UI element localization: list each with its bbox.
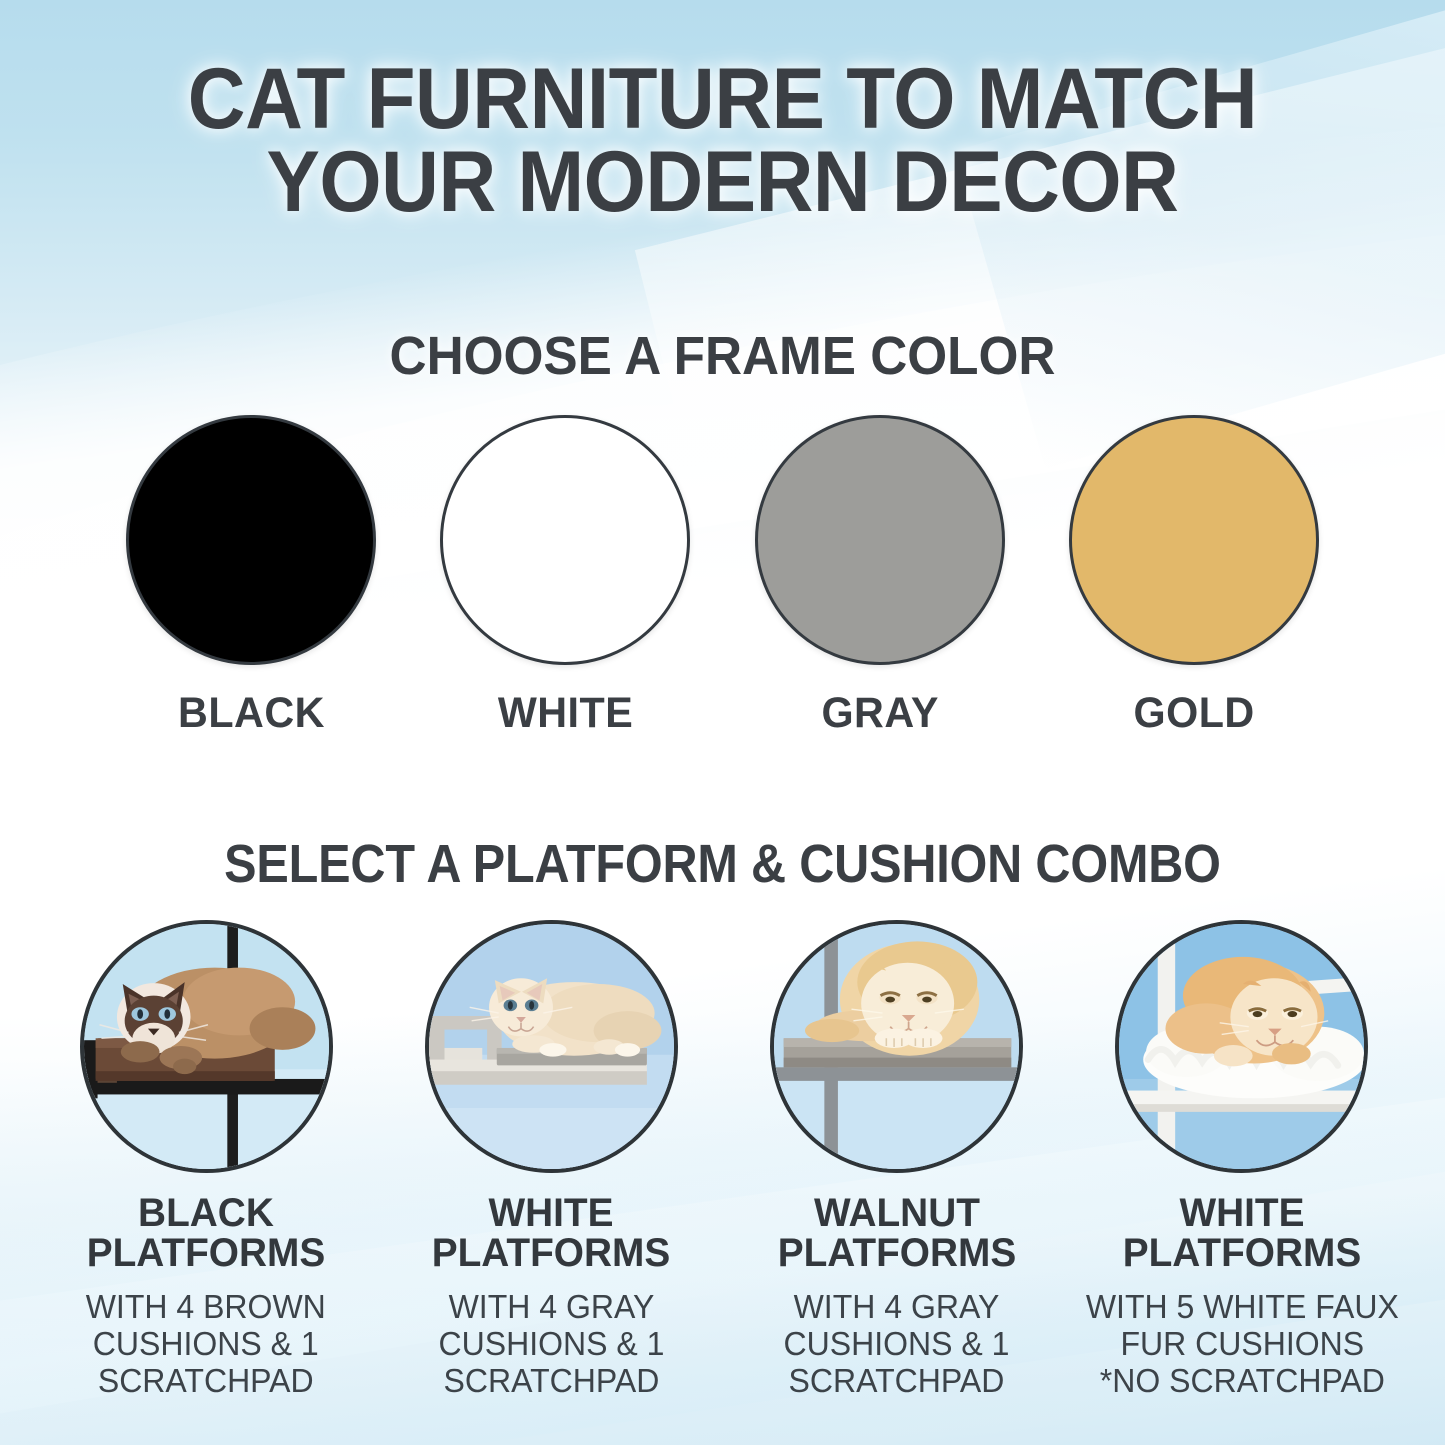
- swatch-label-gray: GRAY: [821, 689, 938, 738]
- platform-cushion-combo-row: BLACK PLATFORMS WITH 4 BROWN CUSHIONS & …: [38, 920, 1410, 1400]
- combo-option-black-platforms[interactable]: BLACK PLATFORMS WITH 4 BROWN CUSHIONS & …: [38, 920, 374, 1400]
- poster-canvas: CAT FURNITURE TO MATCH YOUR MODERN DECOR…: [0, 0, 1445, 1445]
- frame-color-section-title: CHOOSE A FRAME COLOR: [36, 325, 1409, 387]
- combo-title-black-platforms: BLACK PLATFORMS: [87, 1193, 326, 1273]
- combo-option-white-platforms-gray[interactable]: WHITE PLATFORMS WITH 4 GRAY CUSHIONS & 1…: [383, 920, 719, 1400]
- swatch-option-gold[interactable]: GOLD: [1063, 415, 1325, 738]
- combo-subtitle-black-platforms: WITH 4 BROWN CUSHIONS & 1 SCRATCHPAD: [86, 1289, 326, 1400]
- combo-option-white-platforms-fur[interactable]: WHITE PLATFORMS WITH 5 WHITE FAUX FUR CU…: [1074, 920, 1410, 1400]
- combo-subtitle-white-platforms-fur: WITH 5 WHITE FAUX FUR CUSHIONS *NO SCRAT…: [1085, 1289, 1398, 1400]
- swatch-option-white[interactable]: WHITE: [434, 415, 696, 738]
- combo-subtitle-white-platforms-gray: WITH 4 GRAY CUSHIONS & 1 SCRATCHPAD: [438, 1289, 664, 1400]
- poster-content: CAT FURNITURE TO MATCH YOUR MODERN DECOR…: [0, 0, 1445, 1445]
- combo-title-white-platforms-fur: WHITE PLATFORMS: [1123, 1193, 1362, 1273]
- combo-subtitle-walnut-platforms: WITH 4 GRAY CUSHIONS & 1 SCRATCHPAD: [784, 1289, 1010, 1400]
- combo-photo-white-platforms-gray[interactable]: [425, 920, 678, 1173]
- combo-option-walnut-platforms[interactable]: WALNUT PLATFORMS WITH 4 GRAY CUSHIONS & …: [729, 920, 1065, 1400]
- swatch-label-gold: GOLD: [1133, 689, 1254, 738]
- page-title: CAT FURNITURE TO MATCH YOUR MODERN DECOR: [51, 58, 1395, 225]
- swatch-circle-white[interactable]: [440, 415, 690, 665]
- swatch-label-white: WHITE: [498, 689, 633, 738]
- combo-title-walnut-platforms: WALNUT PLATFORMS: [777, 1193, 1016, 1273]
- combo-photo-black-platforms[interactable]: [80, 920, 333, 1173]
- swatch-label-black: BLACK: [178, 689, 325, 738]
- swatch-circle-black[interactable]: [126, 415, 376, 665]
- combo-title-white-platforms-gray: WHITE PLATFORMS: [432, 1193, 671, 1273]
- combo-section-title: SELECT A PLATFORM & CUSHION COMBO: [72, 833, 1373, 895]
- swatch-circle-gold[interactable]: [1069, 415, 1319, 665]
- combo-photo-walnut-platforms[interactable]: [770, 920, 1023, 1173]
- swatch-option-gray[interactable]: GRAY: [749, 415, 1011, 738]
- swatch-circle-gray[interactable]: [755, 415, 1005, 665]
- frame-color-swatch-row: BLACK WHITE GRAY GOLD: [120, 415, 1325, 738]
- combo-photo-white-platforms-fur[interactable]: [1115, 920, 1368, 1173]
- swatch-option-black[interactable]: BLACK: [120, 415, 382, 738]
